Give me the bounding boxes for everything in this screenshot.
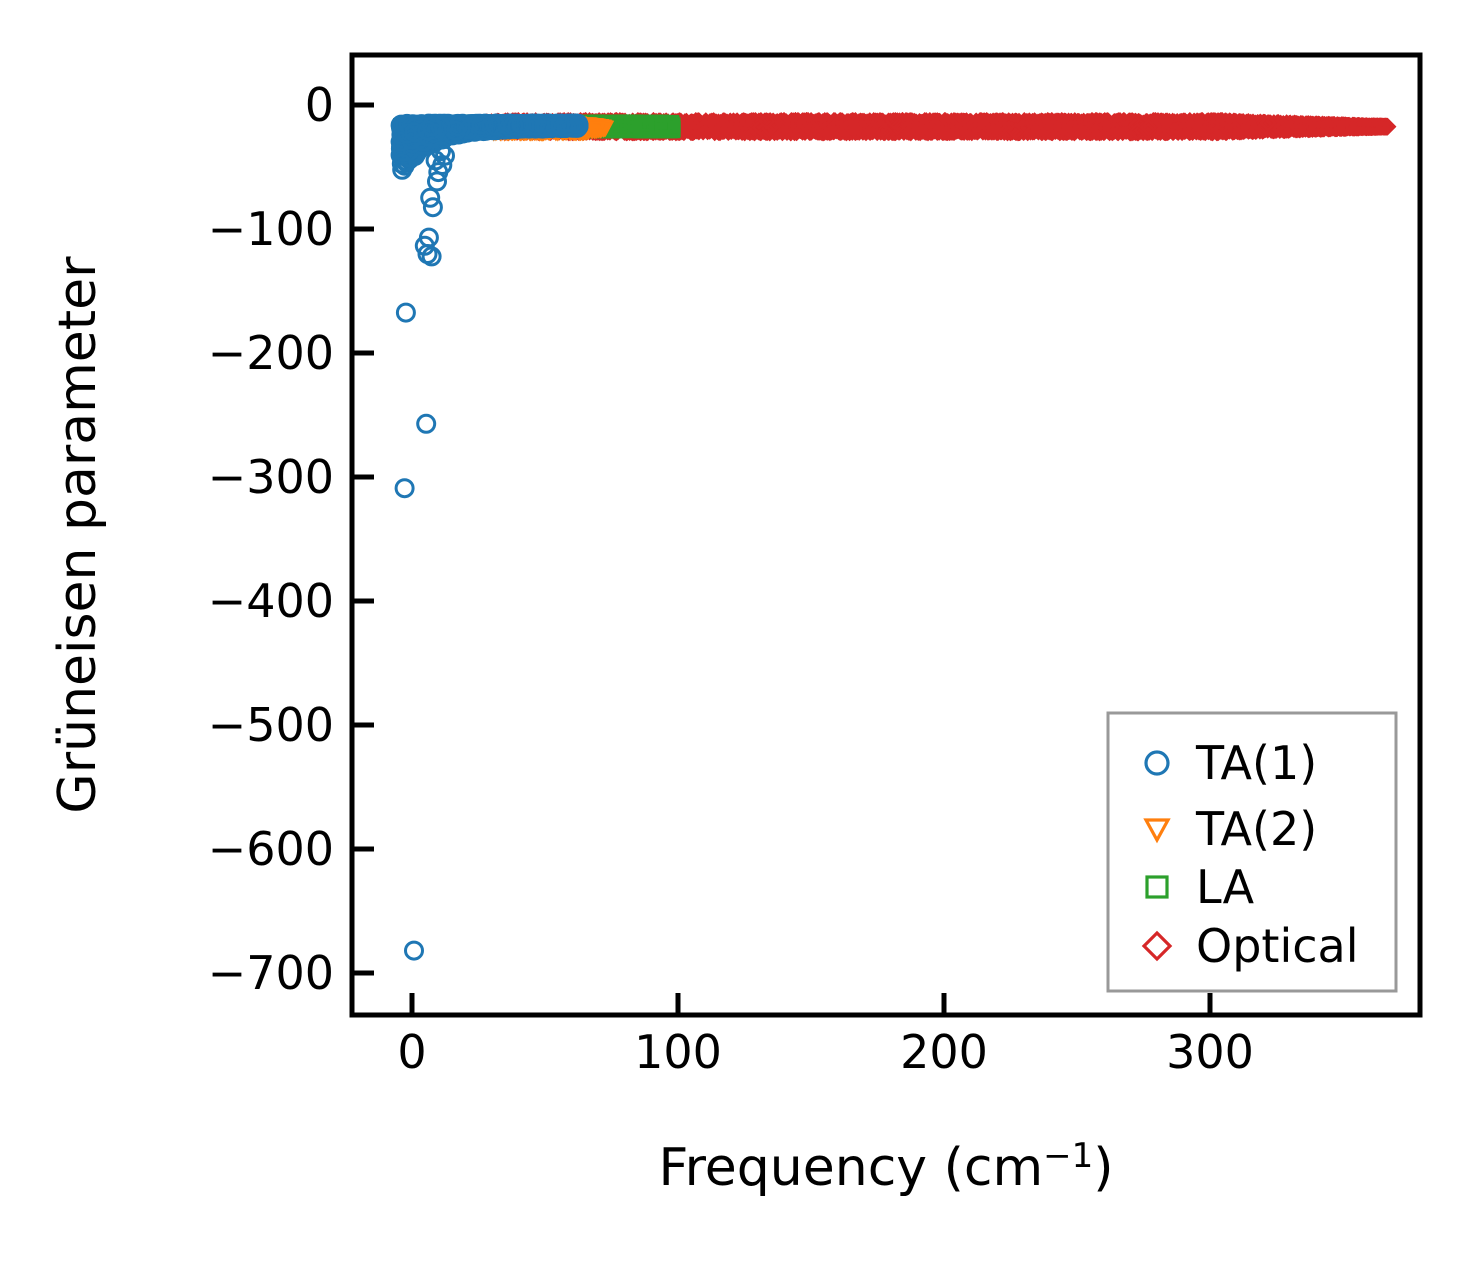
y-tick-label: −700 [208, 946, 334, 1000]
legend-item-label: Optical [1196, 919, 1358, 973]
y-tick-label: −600 [208, 822, 334, 876]
y-tick-label: −300 [208, 450, 334, 504]
x-tick-label: 200 [900, 1025, 988, 1079]
figure-canvas: 0 −100 −200 −300 −400 −500 −600 −700 0 1… [0, 0, 1480, 1264]
x-tick-label: 300 [1166, 1025, 1254, 1079]
x-axis-label-tail: ) [1093, 1138, 1113, 1198]
x-axis-label-main: Frequency (cm [658, 1138, 1043, 1198]
y-axis-tick-labels: 0 −100 −200 −300 −400 −500 −600 −700 [208, 78, 334, 1000]
legend[interactable]: TA(1) TA(2) LA Optical [1108, 713, 1396, 991]
y-tick-label: −400 [208, 574, 334, 628]
x-tick-label: 0 [397, 1025, 426, 1079]
y-axis-label: Grüneisen parameter [48, 256, 108, 814]
x-axis-tick-labels: 0 100 200 300 [397, 1025, 1254, 1079]
x-axis-label-exponent: −1 [1043, 1136, 1093, 1176]
legend-item-label: TA(2) [1195, 802, 1317, 856]
y-tick-label: 0 [305, 78, 334, 132]
legend-item-label: LA [1196, 860, 1255, 914]
y-tick-label: −100 [208, 202, 334, 256]
x-tick-label: 100 [634, 1025, 722, 1079]
y-tick-label: −500 [208, 698, 334, 752]
x-axis-label: Frequency (cm−1) [658, 1136, 1113, 1198]
legend-item-label: TA(1) [1195, 736, 1317, 790]
gruneisen-scatter-plot: 0 −100 −200 −300 −400 −500 −600 −700 0 1… [0, 0, 1480, 1264]
y-tick-label: −200 [208, 326, 334, 380]
